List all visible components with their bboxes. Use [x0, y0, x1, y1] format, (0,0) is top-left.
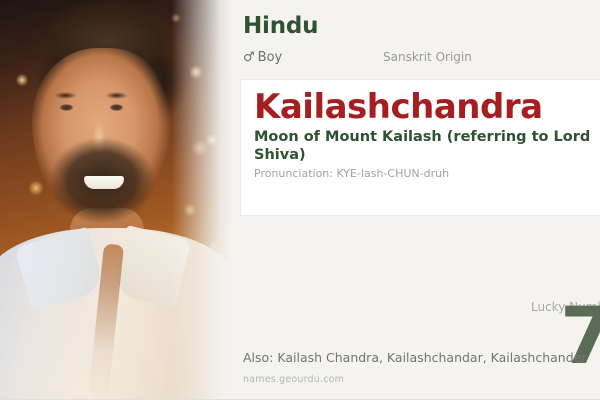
content-panel: Hindu ♂Boy Sanskrit Origin Kailashchandr… — [232, 0, 600, 400]
photo-edge-fade — [0, 0, 232, 400]
name-pronunciation: Pronunciation: KYE-lash-CHUN-druh — [254, 167, 449, 180]
meta-row: ♂Boy Sanskrit Origin — [243, 50, 593, 68]
name-info-card: Hindu ♂Boy Sanskrit Origin Kailashchandr… — [0, 0, 600, 400]
source-watermark: names.geourdu.com — [243, 374, 344, 385]
gender-text: Boy — [258, 50, 283, 65]
portrait-photo — [0, 0, 232, 400]
origin-label: Sanskrit Origin — [383, 50, 472, 64]
name-detail-card: Kailashchandra Moon of Mount Kailash (re… — [241, 80, 600, 215]
religion-heading: Hindu — [243, 13, 318, 39]
page-title: Kailashchandra — [254, 87, 543, 127]
gender-label: ♂Boy — [243, 50, 282, 65]
name-meaning: Moon of Mount Kailash (referring to Lord… — [254, 129, 599, 164]
alternate-spellings: Also: Kailash Chandra, Kailashchandar, K… — [243, 350, 587, 365]
male-gender-icon: ♂ — [243, 50, 255, 65]
